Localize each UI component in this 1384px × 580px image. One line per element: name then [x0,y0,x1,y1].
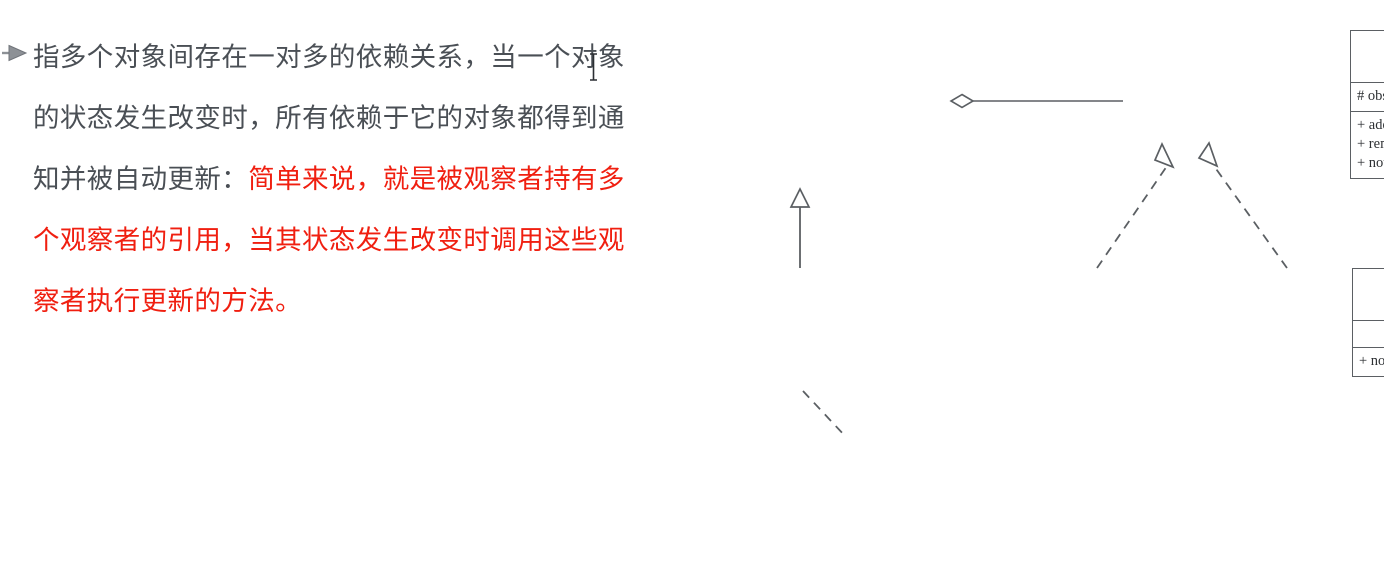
aggregation-subject-observer [951,95,1123,108]
operation-row: + notifyObserver () : void [1359,352,1384,371]
class-name-cn: 具体目标 [1357,274,1384,294]
uml-class-diagram: 抽象目标 Subject # observers : List <Observe… [660,0,1384,580]
class-header: 具体目标 ConcreteSubject [1353,269,1384,320]
class-operations: + notifyObserver () : void [1353,347,1384,376]
realization-concreteobserver2-observer [1199,143,1287,268]
realization-concreteobserver1-observer [1097,144,1173,268]
class-header: 抽象目标 Subject [1351,31,1384,82]
generalization-concretesubject-subject [791,189,809,268]
class-attributes [1353,320,1384,347]
class-name-en: ConcreteSubject [1357,294,1384,314]
slide-paragraph: 指多个对象间存在一对多的依赖关系，当一个对象的状态发生改变时，所有依赖于它的对象… [33,27,633,332]
attribute-row: # observers : List <Observer> [1357,87,1384,106]
uml-class-concretesubject[interactable]: 具体目标 ConcreteSubject + notifyObserver ()… [1352,268,1384,377]
slide-text-panel: 指多个对象间存在一对多的依赖关系，当一个对象的状态发生改变时，所有依赖于它的对象… [0,0,660,580]
class-attributes: # observers : List <Observer> [1351,82,1384,111]
class-name-en: Subject [1355,56,1384,76]
class-operations: + add (Observer observer) : void + remov… [1351,111,1384,178]
uml-class-subject[interactable]: 抽象目标 Subject # observers : List <Observe… [1350,30,1384,179]
operation-row: + add (Observer observer) : void [1357,116,1384,135]
uml-connectors-layer [660,0,1384,580]
class-name-cn: 抽象目标 [1355,36,1384,56]
operation-row: + remove (Observer observer) : void [1357,135,1384,154]
note-anchor-line [803,391,846,437]
operation-row: + notifyObserver () : void [1357,154,1384,173]
right-triangle-bullet-icon [2,44,28,62]
